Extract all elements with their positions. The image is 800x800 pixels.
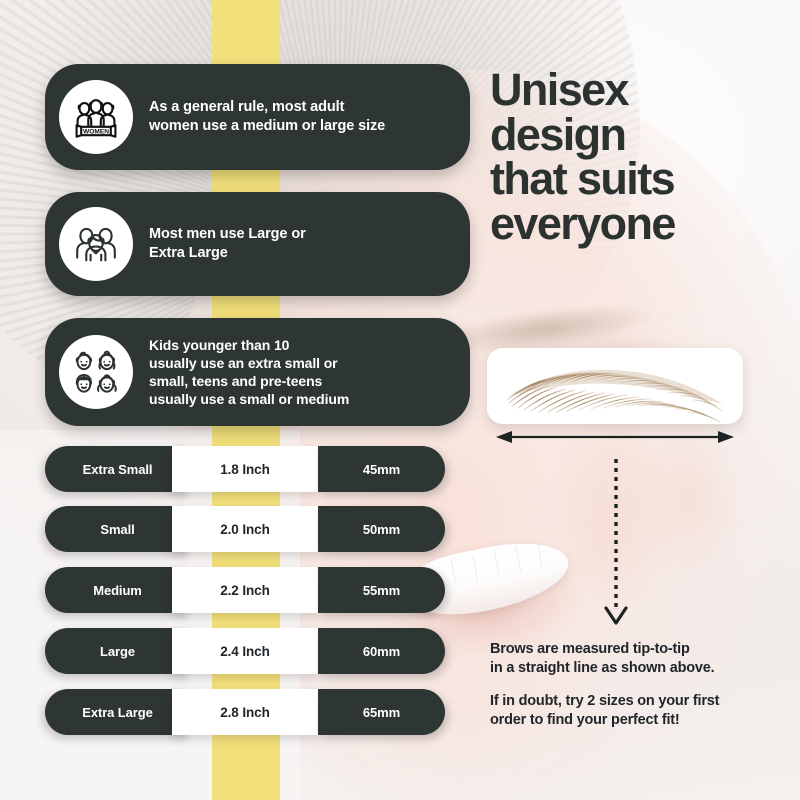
sizing-advice-note: If in doubt, try 2 sizes on your first o… — [490, 692, 790, 730]
women-banner-text: WOMEN — [83, 129, 109, 136]
size-mm-cell: 65mm — [318, 689, 445, 735]
eyebrow-photo — [487, 348, 743, 424]
info-card-women: WOMEN As a general rule, most adult wome… — [45, 64, 470, 170]
size-mm-cell: 55mm — [318, 567, 445, 613]
size-mm-cell: 45mm — [318, 446, 445, 492]
kids-faces-icon — [59, 335, 133, 409]
size-name-label: Extra Small — [83, 462, 153, 477]
info-card-kids: Kids younger than 10 usually use an extr… — [45, 318, 470, 426]
size-mm-label: 60mm — [363, 644, 400, 659]
women-group-icon: WOMEN — [59, 80, 133, 154]
size-name-label: Large — [100, 644, 135, 659]
size-mm-label: 55mm — [363, 583, 400, 598]
size-inch-cell: 1.8 Inch — [172, 446, 318, 492]
table-row: Extra Large 2.8 Inch 65mm — [45, 689, 445, 735]
size-name-label: Small — [100, 522, 134, 537]
size-name-cell: Extra Small — [45, 446, 190, 492]
size-mm-label: 65mm — [363, 705, 400, 720]
size-mm-cell: 50mm — [318, 506, 445, 552]
table-row: Large 2.4 Inch 60mm — [45, 628, 445, 674]
size-inch-cell: 2.8 Inch — [172, 689, 318, 735]
size-inch-cell: 2.2 Inch — [172, 567, 318, 613]
eyebrow-photo-card — [487, 348, 743, 424]
size-name-cell: Large — [45, 628, 190, 674]
info-card-women-text: As a general rule, most adult women use … — [149, 98, 385, 137]
info-card-kids-text: Kids younger than 10 usually use an extr… — [149, 336, 349, 409]
size-name-cell: Medium — [45, 567, 190, 613]
page-title: Unisex design that suits everyone — [490, 68, 790, 246]
measure-instruction-note: Brows are measured tip-to-tip in a strai… — [490, 640, 790, 678]
size-mm-label: 45mm — [363, 462, 400, 477]
size-name-label: Medium — [93, 583, 142, 598]
table-row: Medium 2.2 Inch 55mm — [45, 567, 445, 613]
info-card-men: Most men use Large or Extra Large — [45, 192, 470, 296]
size-inch-cell: 2.0 Inch — [172, 506, 318, 552]
size-name-cell: Extra Large — [45, 689, 190, 735]
size-inch-label: 2.4 Inch — [220, 644, 269, 659]
size-inch-cell: 2.4 Inch — [172, 628, 318, 674]
size-inch-label: 2.8 Inch — [220, 705, 269, 720]
size-mm-label: 50mm — [363, 522, 400, 537]
tip-to-tip-measure-arrow — [492, 428, 738, 446]
size-mm-cell: 60mm — [318, 628, 445, 674]
size-name-cell: Small — [45, 506, 190, 552]
size-inch-label: 2.0 Inch — [220, 522, 269, 537]
size-inch-label: 1.8 Inch — [220, 462, 269, 477]
table-row: Extra Small 1.8 Inch 45mm — [45, 446, 445, 492]
size-name-label: Extra Large — [82, 705, 152, 720]
table-row: Small 2.0 Inch 50mm — [45, 506, 445, 552]
info-card-men-text: Most men use Large or Extra Large — [149, 225, 306, 264]
size-inch-label: 2.2 Inch — [220, 583, 269, 598]
men-group-icon — [59, 207, 133, 281]
dotted-down-arrow — [588, 455, 644, 630]
